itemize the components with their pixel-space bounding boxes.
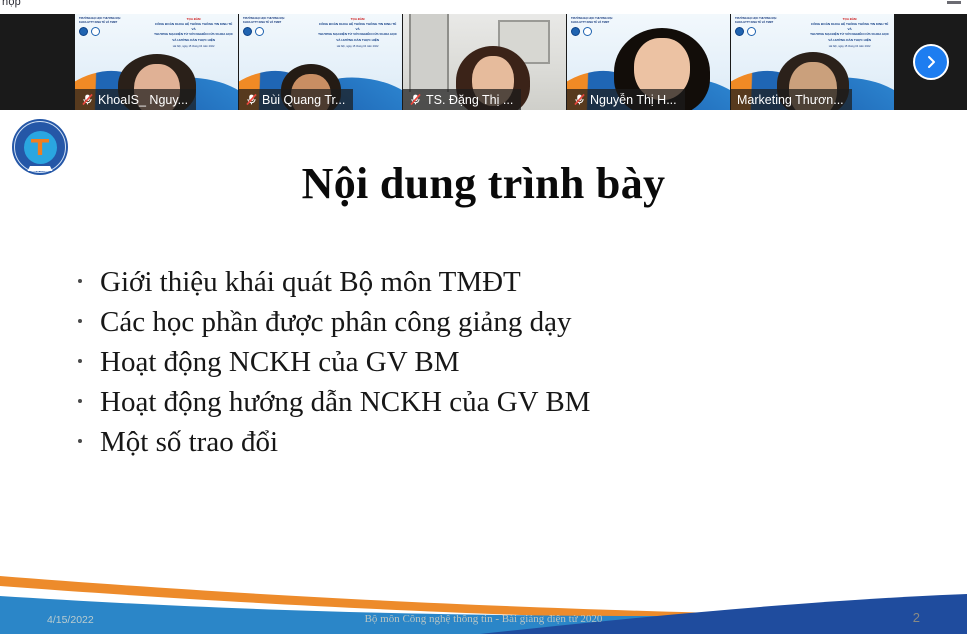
banner-logos	[735, 27, 776, 36]
slide-bullet-list: Giới thiệu khái quát Bộ môn TMĐT Các học…	[78, 262, 590, 462]
bullet-text: Hoạt động NCKH của GV BM	[100, 342, 460, 382]
bullet-text: Một số trao đổi	[100, 422, 278, 462]
banner-date: Hà Nội, ngày 15 tháng 04 năm 2022	[153, 45, 234, 49]
participant-tile-active-speaker[interactable]: TRƯỜNG ĐẠI HỌC THƯƠNG MẠI KHOA HTTT KINH…	[731, 14, 894, 110]
banner-org-line2: KHOA HTTT KINH TẾ VÀ TMĐT	[79, 21, 120, 25]
next-page-button[interactable]	[913, 44, 949, 80]
bullet-dot-icon	[78, 319, 82, 323]
video-filmstrip: TRƯỜNG ĐẠI HỌC THƯƠNG MẠI KHOA HTTT KINH…	[0, 14, 967, 110]
participant-tile[interactable]: TRƯỜNG ĐẠI HỌC THƯƠNG MẠI KHOA HTTT KINH…	[239, 14, 402, 110]
banner-main-text: TỌA ĐÀM CÔNG ĐOÀN KHOA HỆ THỐNG THÔNG TI…	[153, 17, 234, 49]
minimize-icon[interactable]	[947, 1, 961, 4]
banner-date: Hà Nội, ngày 15 tháng 04 năm 2022	[809, 45, 890, 49]
logo-pillar-shape	[31, 139, 49, 155]
muted-microphone-icon	[573, 93, 586, 106]
banner-subtitle-2: THƯƠNG MẠI ĐIỆN TỬ VỚI NGHIÊN CỨU KHOA H…	[809, 32, 890, 37]
participant-name: Nguyễn Thị H...	[590, 93, 677, 107]
bullet-dot-icon	[78, 439, 82, 443]
banner-subtitle-2: THƯƠNG MẠI ĐIỆN TỬ VỚI NGHIÊN CỨU KHOA H…	[317, 32, 398, 37]
banner-date: Hà Nội, ngày 15 tháng 04 năm 2022	[317, 45, 398, 49]
window-title-bar: họp	[0, 0, 967, 14]
banner-logos	[571, 27, 612, 36]
bullet-text: Hoạt động hướng dẫn NCKH của GV BM	[100, 382, 590, 422]
door-shape	[409, 14, 449, 92]
participant-name-badge: TS. Đặng Thị ...	[403, 89, 521, 110]
zoom-meeting-window: họp TRƯỜNG ĐẠI HỌC THƯƠNG MẠI KHOA HTTT …	[0, 0, 967, 634]
union-seal-icon	[255, 27, 264, 36]
union-seal-icon	[747, 27, 756, 36]
banner-subtitle-1: CÔNG ĐOÀN KHOA HỆ THỐNG THÔNG TIN KINH T…	[809, 22, 890, 33]
participant-tile[interactable]: TRƯỜNG ĐẠI HỌC THƯƠNG MẠI KHOA HTTT KINH…	[75, 14, 238, 110]
participant-name-badge: Bùi Quang Tr...	[239, 89, 353, 110]
banner-subtitle-3: VÀ HƯỚNG DẪN THỰC HIỆN	[153, 38, 234, 43]
banner-subtitle-3: VÀ HƯỚNG DẪN THỰC HIỆN	[317, 38, 398, 43]
banner-org-line2: KHOA HTTT KINH TẾ VÀ TMĐT	[243, 21, 284, 25]
wave-graphic	[0, 574, 967, 634]
slide-footer-caption: Bộ môn Công nghệ thông tin - Bài giảng đ…	[0, 613, 967, 625]
muted-microphone-icon	[81, 93, 94, 106]
participant-name: KhoaIS_ Nguy...	[98, 93, 188, 107]
university-seal-icon	[735, 27, 744, 36]
union-seal-icon	[91, 27, 100, 36]
banner-main-text: TỌA ĐÀM CÔNG ĐOÀN KHOA HỆ THỐNG THÔNG TI…	[317, 17, 398, 49]
banner-logos	[79, 27, 120, 36]
muted-microphone-icon	[245, 93, 258, 106]
banner-main-text: TỌA ĐÀM CÔNG ĐOÀN KHOA HỆ THỐNG THÔNG TI…	[809, 17, 890, 49]
window-title: họp	[2, 0, 21, 8]
bullet-item: Một số trao đổi	[78, 422, 590, 462]
university-seal-icon	[79, 27, 88, 36]
bullet-item: Các học phần được phân công giảng dạy	[78, 302, 590, 342]
bullet-item: Hoạt động NCKH của GV BM	[78, 342, 590, 382]
slide-title: Nội dung trình bày	[0, 158, 967, 209]
banner-logos	[243, 27, 284, 36]
university-seal-icon	[571, 27, 580, 36]
banner-subtitle-1: CÔNG ĐOÀN KHOA HỆ THỐNG THÔNG TIN KINH T…	[317, 22, 398, 33]
participant-name: TS. Đặng Thị ...	[426, 93, 513, 107]
participant-tile[interactable]: TS. Đặng Thị ...	[403, 14, 566, 110]
banner-org-line2: KHOA HTTT KINH TẾ VÀ TMĐT	[571, 21, 612, 25]
participant-name-badge: KhoaIS_ Nguy...	[75, 89, 196, 110]
bullet-item: Hoạt động hướng dẫn NCKH của GV BM	[78, 382, 590, 422]
participant-name-badge: Nguyễn Thị H...	[567, 89, 685, 110]
banner-subtitle-2: THƯƠNG MẠI ĐIỆN TỬ VỚI NGHIÊN CỨU KHOA H…	[153, 32, 234, 37]
participant-name-badge: Marketing Thươn...	[731, 89, 852, 110]
banner-subtitle-3: VÀ HƯỚNG DẪN THỰC HIỆN	[809, 38, 890, 43]
participant-tile[interactable]: TRƯỜNG ĐẠI HỌC THƯƠNG MẠI KHOA HTTT KINH…	[567, 14, 730, 110]
union-seal-icon	[583, 27, 592, 36]
banner-subtitle-1: CÔNG ĐOÀN KHOA HỆ THỐNG THÔNG TIN KINH T…	[153, 22, 234, 33]
bullet-text: Các học phần được phân công giảng dạy	[100, 302, 572, 342]
bullet-dot-icon	[78, 399, 82, 403]
university-seal-icon	[243, 27, 252, 36]
bullet-text: Giới thiệu khái quát Bộ môn TMĐT	[100, 262, 521, 302]
participant-name: Marketing Thươn...	[737, 93, 844, 107]
bullet-dot-icon	[78, 279, 82, 283]
bullet-dot-icon	[78, 359, 82, 363]
slide-page-number: 2	[913, 610, 920, 625]
bullet-item: Giới thiệu khái quát Bộ môn TMĐT	[78, 262, 590, 302]
participant-name: Bùi Quang Tr...	[262, 93, 345, 107]
banner-org-line2: KHOA HTTT KINH TẾ VÀ TMĐT	[735, 21, 776, 25]
shared-slide: 1960 Nội dung trình bày Giới thiệu khái …	[0, 110, 967, 634]
participant-thumbnails: TRƯỜNG ĐẠI HỌC THƯƠNG MẠI KHOA HTTT KINH…	[75, 14, 892, 110]
muted-microphone-icon	[409, 93, 422, 106]
chevron-right-icon	[923, 54, 939, 70]
slide-footer-decoration	[0, 574, 967, 634]
